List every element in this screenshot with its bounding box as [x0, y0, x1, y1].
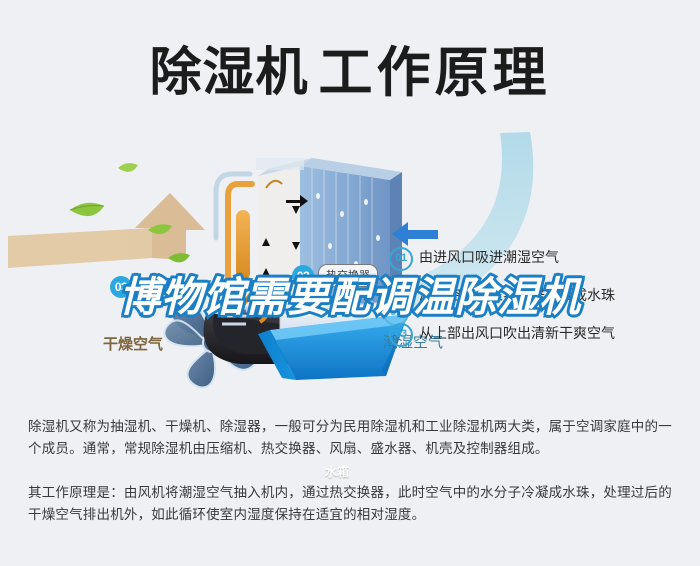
step-text-3: 从上部出风口吹出清新干爽空气 [419, 323, 615, 343]
step-item-3: 03 从上部出风口吹出清新干爽空气 [389, 323, 689, 345]
title-part-a: 除湿机 [149, 44, 308, 102]
page-title: 除湿机工作原理 [0, 28, 700, 107]
label-dry-air: 干燥空气 [103, 333, 163, 354]
body-paragraph-1: 除湿机又称为抽湿机、干燥机、除湿器，一般可分为民用除湿机和工业除湿机两大类，属于… [28, 416, 676, 460]
step-number-3: 03 [389, 323, 413, 347]
body-paragraph-2: 其工作原理是：由风机将潮湿空气抽入机内，通过热交换器，此时空气中的水分子冷凝成水… [28, 482, 676, 526]
overlay-headline: 博物馆需要配调温除湿机 [0, 263, 700, 323]
title-part-b: 工作原理 [319, 43, 551, 103]
body-copy: 除湿机又称为抽湿机、干燥机、除湿器，一般可分为民用除湿机和工业除湿机两大类，属于… [28, 416, 676, 526]
